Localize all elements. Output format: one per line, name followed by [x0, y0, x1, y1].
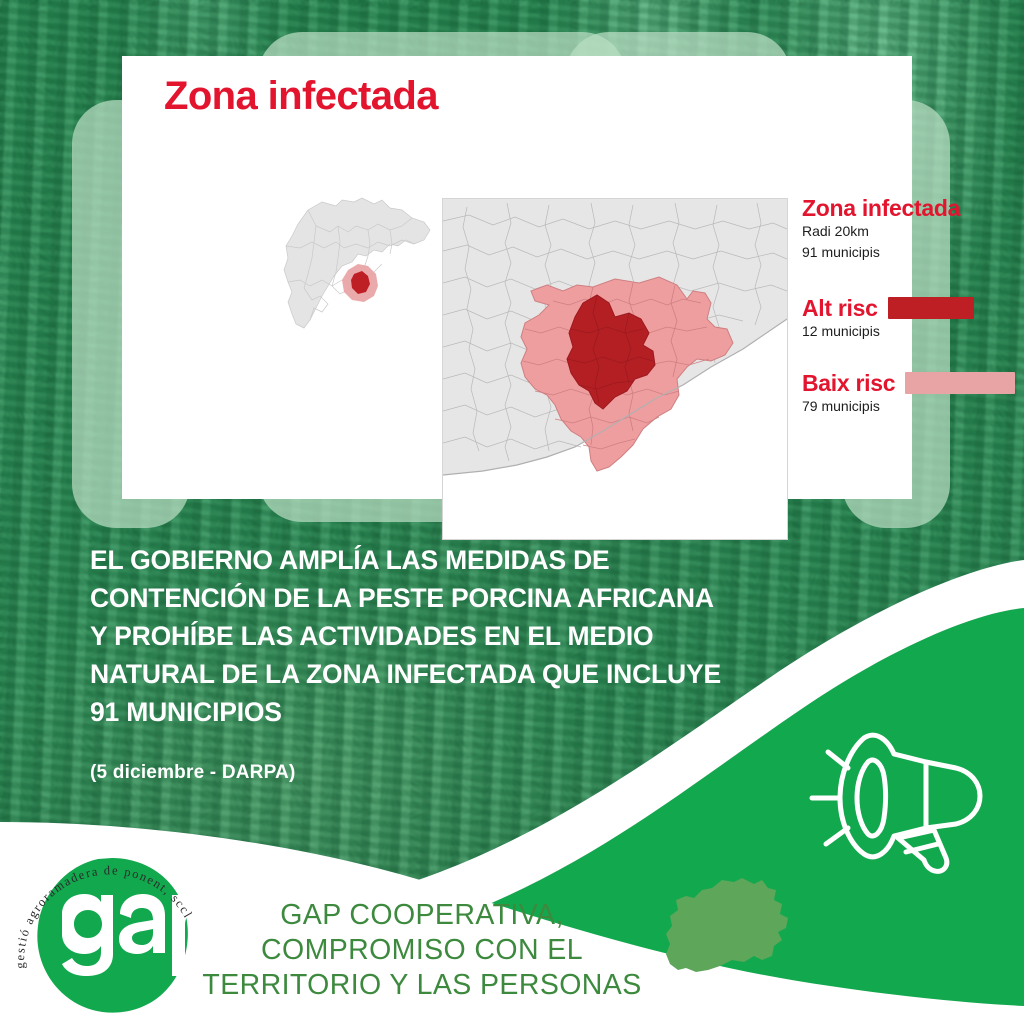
infected-zone-map-svg: [443, 199, 787, 539]
tagline-line-1: GAP COOPERATIVA,: [196, 898, 648, 933]
legend-low-risk-row: Baix risc: [802, 371, 1024, 395]
legend-zone-radius: Radi 20km: [802, 222, 1024, 241]
legend-zone-municipalities: 91 municipis: [802, 243, 1024, 262]
catalonia-inset-svg: [278, 196, 436, 341]
legend-high-risk-block: Alt risc 12 municipis: [802, 296, 1024, 341]
legend-zone-heading: Zona infectada: [802, 196, 1024, 220]
territory-shape-icon: [650, 876, 840, 998]
legend-low-risk-block: Baix risc 79 municipis: [802, 371, 1024, 416]
megaphone-icon: [806, 716, 996, 876]
social-post-canvas: Zona infectada: [0, 0, 1024, 1024]
legend-low-risk-swatch: [905, 372, 1015, 394]
infected-zone-map: [442, 198, 788, 540]
legend-high-risk-swatch: [888, 297, 974, 319]
card-title: Zona infectada: [164, 74, 438, 119]
legend-high-risk-label: Alt risc: [802, 296, 878, 320]
tagline-line-3: TERRITORIO Y LAS PERSONAS: [196, 968, 648, 1003]
map-legend: Zona infectada Radi 20km 91 municipis Al…: [802, 196, 1024, 416]
footer-tagline: GAP COOPERATIVA, COMPROMISO CON EL TERRI…: [196, 898, 648, 1002]
gap-logo: gestió agroramadera de ponent, sccl: [14, 836, 210, 1024]
infographic-card: Zona infectada: [122, 56, 912, 499]
legend-high-risk-municipalities: 12 municipis: [802, 322, 1024, 341]
legend-low-risk-label: Baix risc: [802, 371, 895, 395]
legend-low-risk-municipalities: 79 municipis: [802, 397, 1024, 416]
tagline-line-2: COMPROMISO CON EL: [196, 933, 648, 968]
catalonia-inset-map: [278, 196, 436, 341]
legend-high-risk-row: Alt risc: [802, 296, 1024, 320]
